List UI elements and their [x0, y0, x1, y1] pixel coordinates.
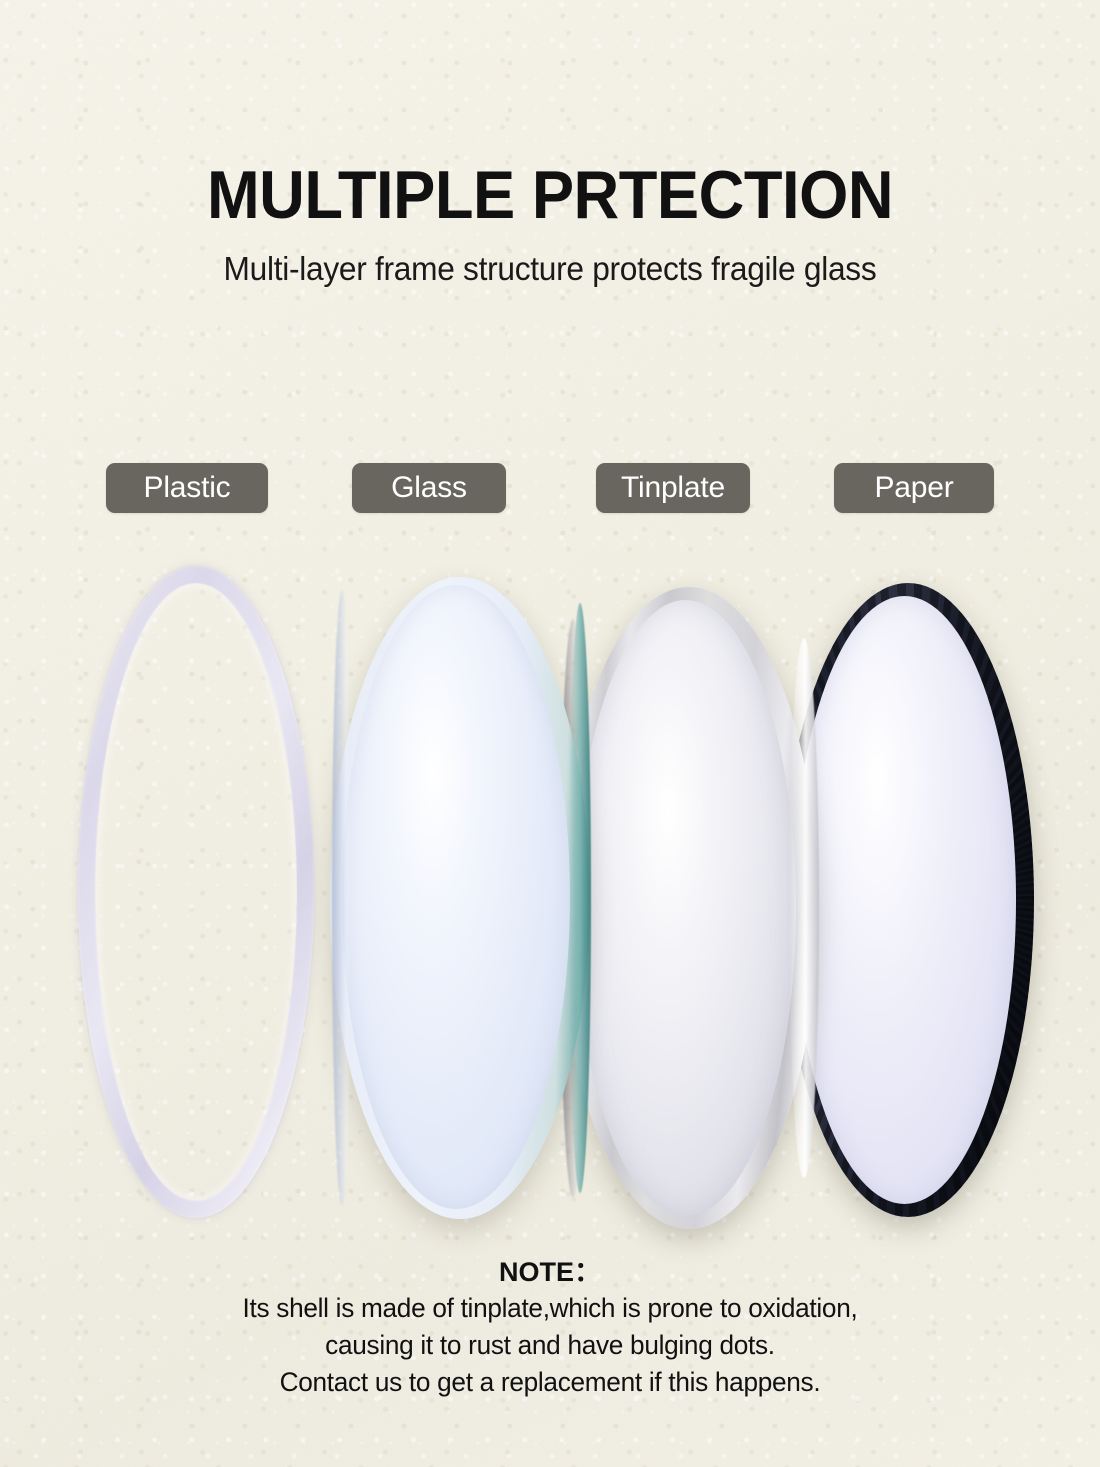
badge-plastic: Plastic — [106, 463, 268, 513]
material-badge-row: Plastic Glass Tinplate Paper — [0, 463, 1100, 515]
note-heading: NOTE： — [0, 1256, 1100, 1290]
note-block: NOTE： Its shell is made of tinplate,whic… — [0, 1256, 1100, 1401]
note-line-1: Its shell is made of tinplate,which is p… — [17, 1290, 1084, 1327]
badge-paper: Paper — [834, 463, 994, 513]
note-line-2: causing it to rust and have bulging dots… — [17, 1327, 1084, 1364]
note-line-3: Contact us to get a replacement if this … — [17, 1364, 1084, 1401]
badge-glass: Glass — [352, 463, 506, 513]
badge-tinplate: Tinplate — [596, 463, 750, 513]
page-title: MULTIPLE PRTECTION — [39, 160, 1062, 231]
page-subtitle: Multi-layer frame structure protects fra… — [22, 250, 1078, 288]
